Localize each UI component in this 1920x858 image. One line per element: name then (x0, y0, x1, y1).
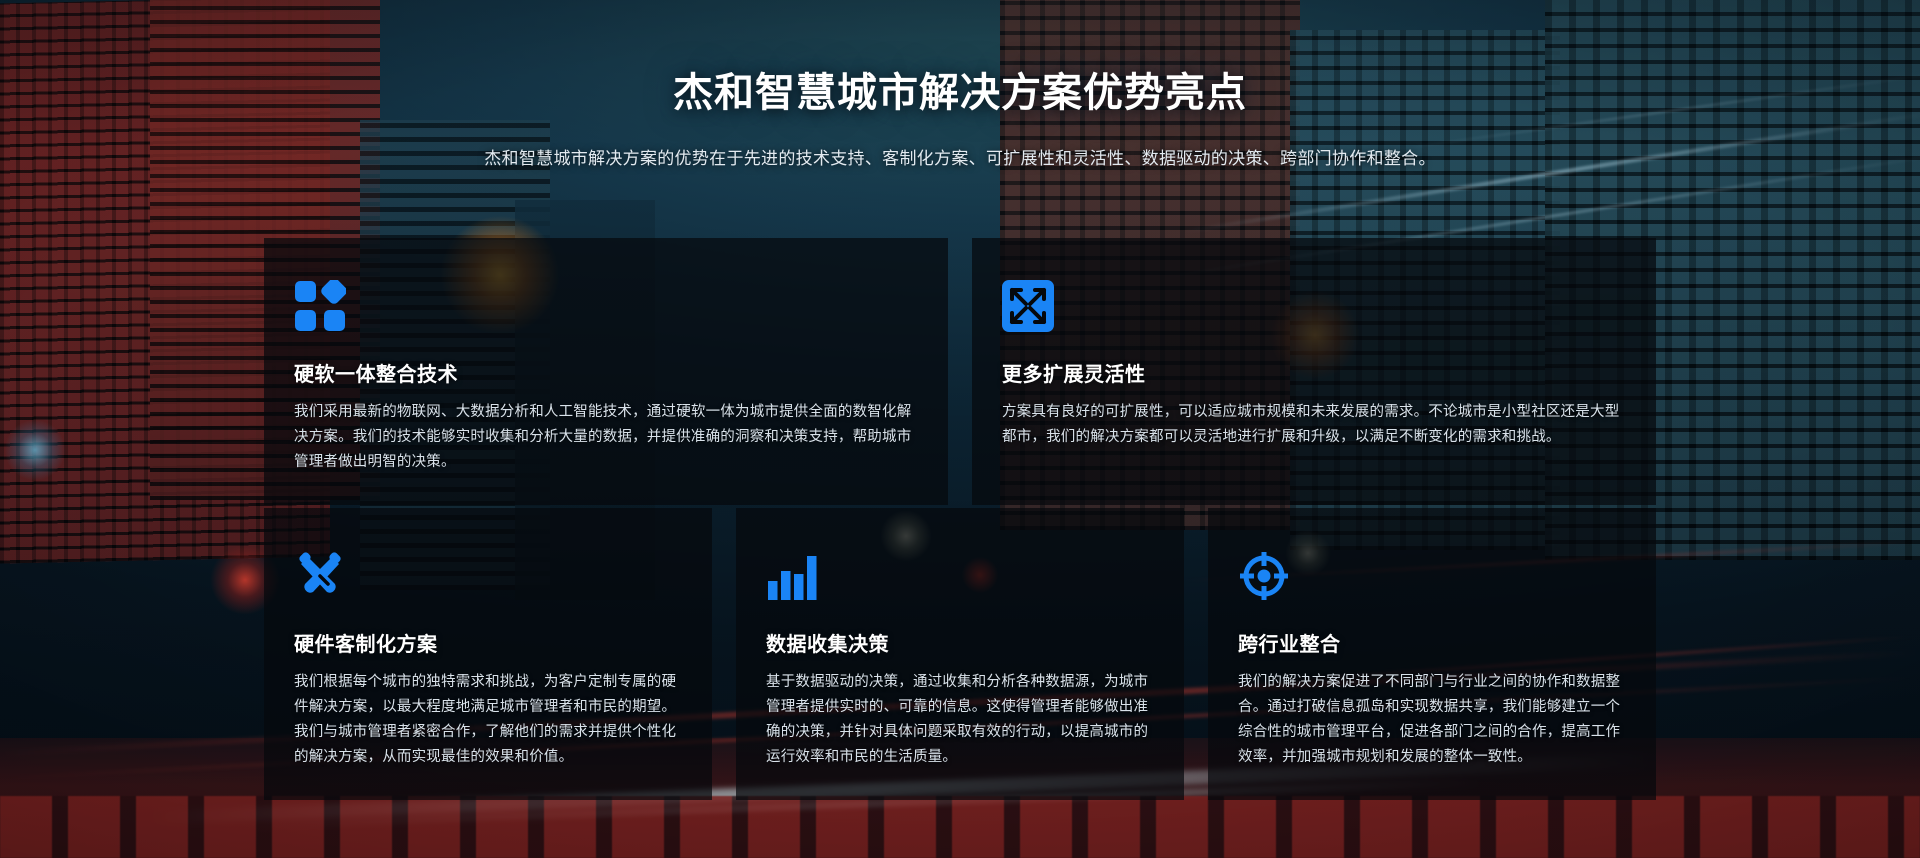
feature-card-title: 硬件客制化方案 (294, 628, 682, 657)
feature-card-title: 硬软一体整合技术 (294, 358, 918, 387)
hero-content: 杰和智慧城市解决方案优势亮点 杰和智慧城市解决方案的优势在于先进的技术支持、客制… (0, 0, 1920, 858)
hero-banner: 杰和智慧城市解决方案优势亮点 杰和智慧城市解决方案的优势在于先进的技术支持、客制… (0, 0, 1920, 858)
feature-card-cross-industry-integration[interactable]: 跨行业整合 我们的解决方案促进了不同部门与行业之间的协作和数据整合。通过打破信息… (1208, 508, 1656, 800)
target-crosshair-icon (1238, 550, 1290, 602)
feature-card-hardware-software-integration[interactable]: 硬软一体整合技术 我们采用最新的物联网、大数据分析和人工智能技术，通过硬软一体为… (264, 238, 948, 505)
feature-card-description: 方案具有良好的可扩展性，可以适应城市规模和未来发展的需求。不论城市是小型社区还是… (1002, 400, 1626, 450)
feature-card-description: 我们的解决方案促进了不同部门与行业之间的协作和数据整合。通过打破信息孤岛和实现数… (1238, 670, 1626, 770)
page-subtitle: 杰和智慧城市解决方案的优势在于先进的技术支持、客制化方案、可扩展性和灵活性、数据… (0, 144, 1920, 169)
feature-card-row-bottom: 硬件客制化方案 我们根据每个城市的独特需求和挑战，为客户定制专属的硬件解决方案，… (264, 508, 1656, 800)
bar-chart-icon (766, 550, 818, 602)
page-title: 杰和智慧城市解决方案优势亮点 (0, 60, 1920, 118)
feature-card-description: 我们根据每个城市的独特需求和挑战，为客户定制专属的硬件解决方案，以最大程度地满足… (294, 670, 682, 770)
feature-card-title: 跨行业整合 (1238, 628, 1626, 657)
feature-card-title: 更多扩展灵活性 (1002, 358, 1626, 387)
feature-card-data-driven-decisions[interactable]: 数据收集决策 基于数据驱动的决策，通过收集和分析各种数据源，为城市管理者提供实时… (736, 508, 1184, 800)
feature-card-row-top: 硬软一体整合技术 我们采用最新的物联网、大数据分析和人工智能技术，通过硬软一体为… (264, 238, 1656, 505)
feature-card-description: 我们采用最新的物联网、大数据分析和人工智能技术，通过硬软一体为城市提供全面的数智… (294, 400, 918, 475)
feature-card-title: 数据收集决策 (766, 628, 1154, 657)
feature-card-scalability-flexibility[interactable]: 更多扩展灵活性 方案具有良好的可扩展性，可以适应城市规模和未来发展的需求。不论城… (972, 238, 1656, 505)
crossed-tools-icon (294, 550, 346, 602)
feature-card-hardware-customization[interactable]: 硬件客制化方案 我们根据每个城市的独特需求和挑战，为客户定制专属的硬件解决方案，… (264, 508, 712, 800)
grid-blocks-icon (294, 280, 346, 332)
feature-card-description: 基于数据驱动的决策，通过收集和分析各种数据源，为城市管理者提供实时的、可靠的信息… (766, 670, 1154, 770)
expand-arrows-icon (1002, 280, 1054, 332)
